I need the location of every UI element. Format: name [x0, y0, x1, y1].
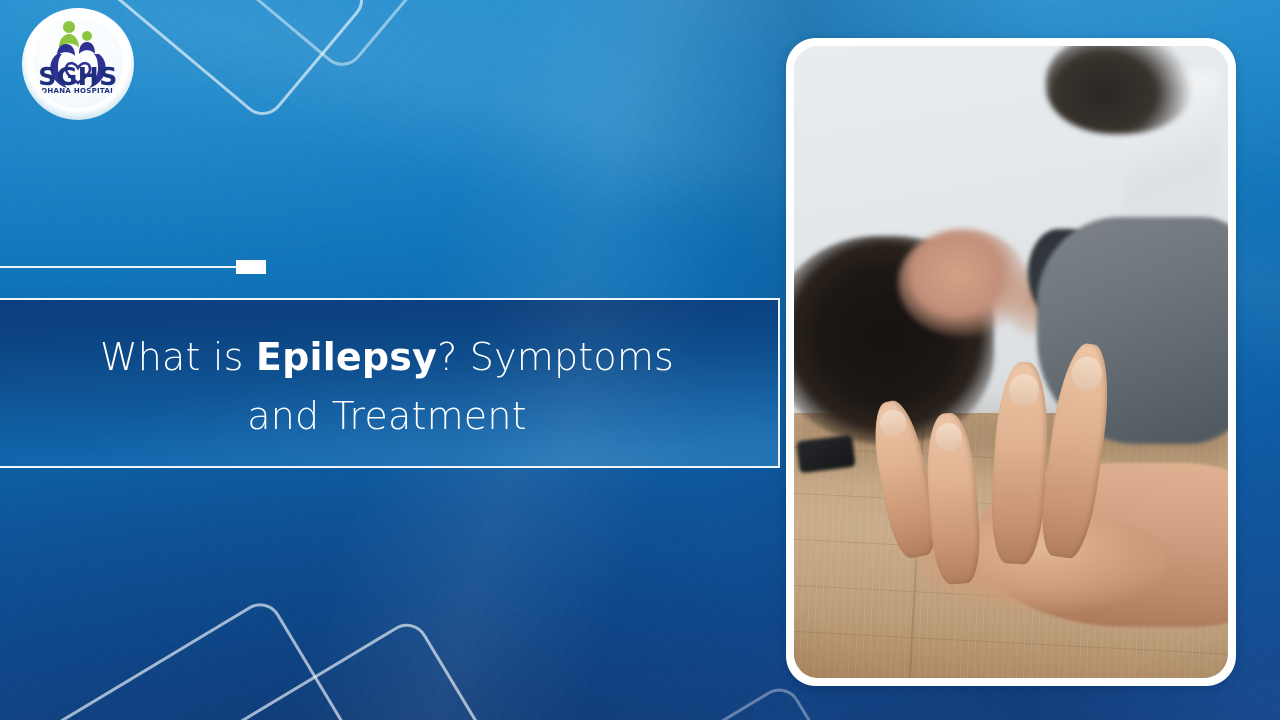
accent-block: [236, 260, 266, 274]
headline-band: What is Epilepsy? Symptoms and Treatment: [0, 298, 780, 468]
logo-acronym: SGHS: [33, 64, 123, 89]
epilepsy-article-banner: SGHS SOHANA HOSPITALS What is Epilepsy? …: [0, 0, 1280, 720]
page-title-emphasis: Epilepsy: [256, 335, 437, 379]
accent-rule: [0, 266, 236, 268]
hero-photo-card: [786, 38, 1236, 686]
brand-logo[interactable]: SGHS SOHANA HOSPITALS: [22, 8, 134, 120]
logo-disc: SGHS SOHANA HOSPITALS: [33, 18, 123, 108]
page-title: What is Epilepsy? Symptoms and Treatment: [0, 300, 778, 446]
hero-photo: [794, 46, 1228, 678]
page-title-prefix: What is: [100, 335, 256, 379]
logo-subtitle: SOHANA HOSPITALS: [33, 88, 123, 95]
photo-vignette: [794, 46, 1228, 678]
